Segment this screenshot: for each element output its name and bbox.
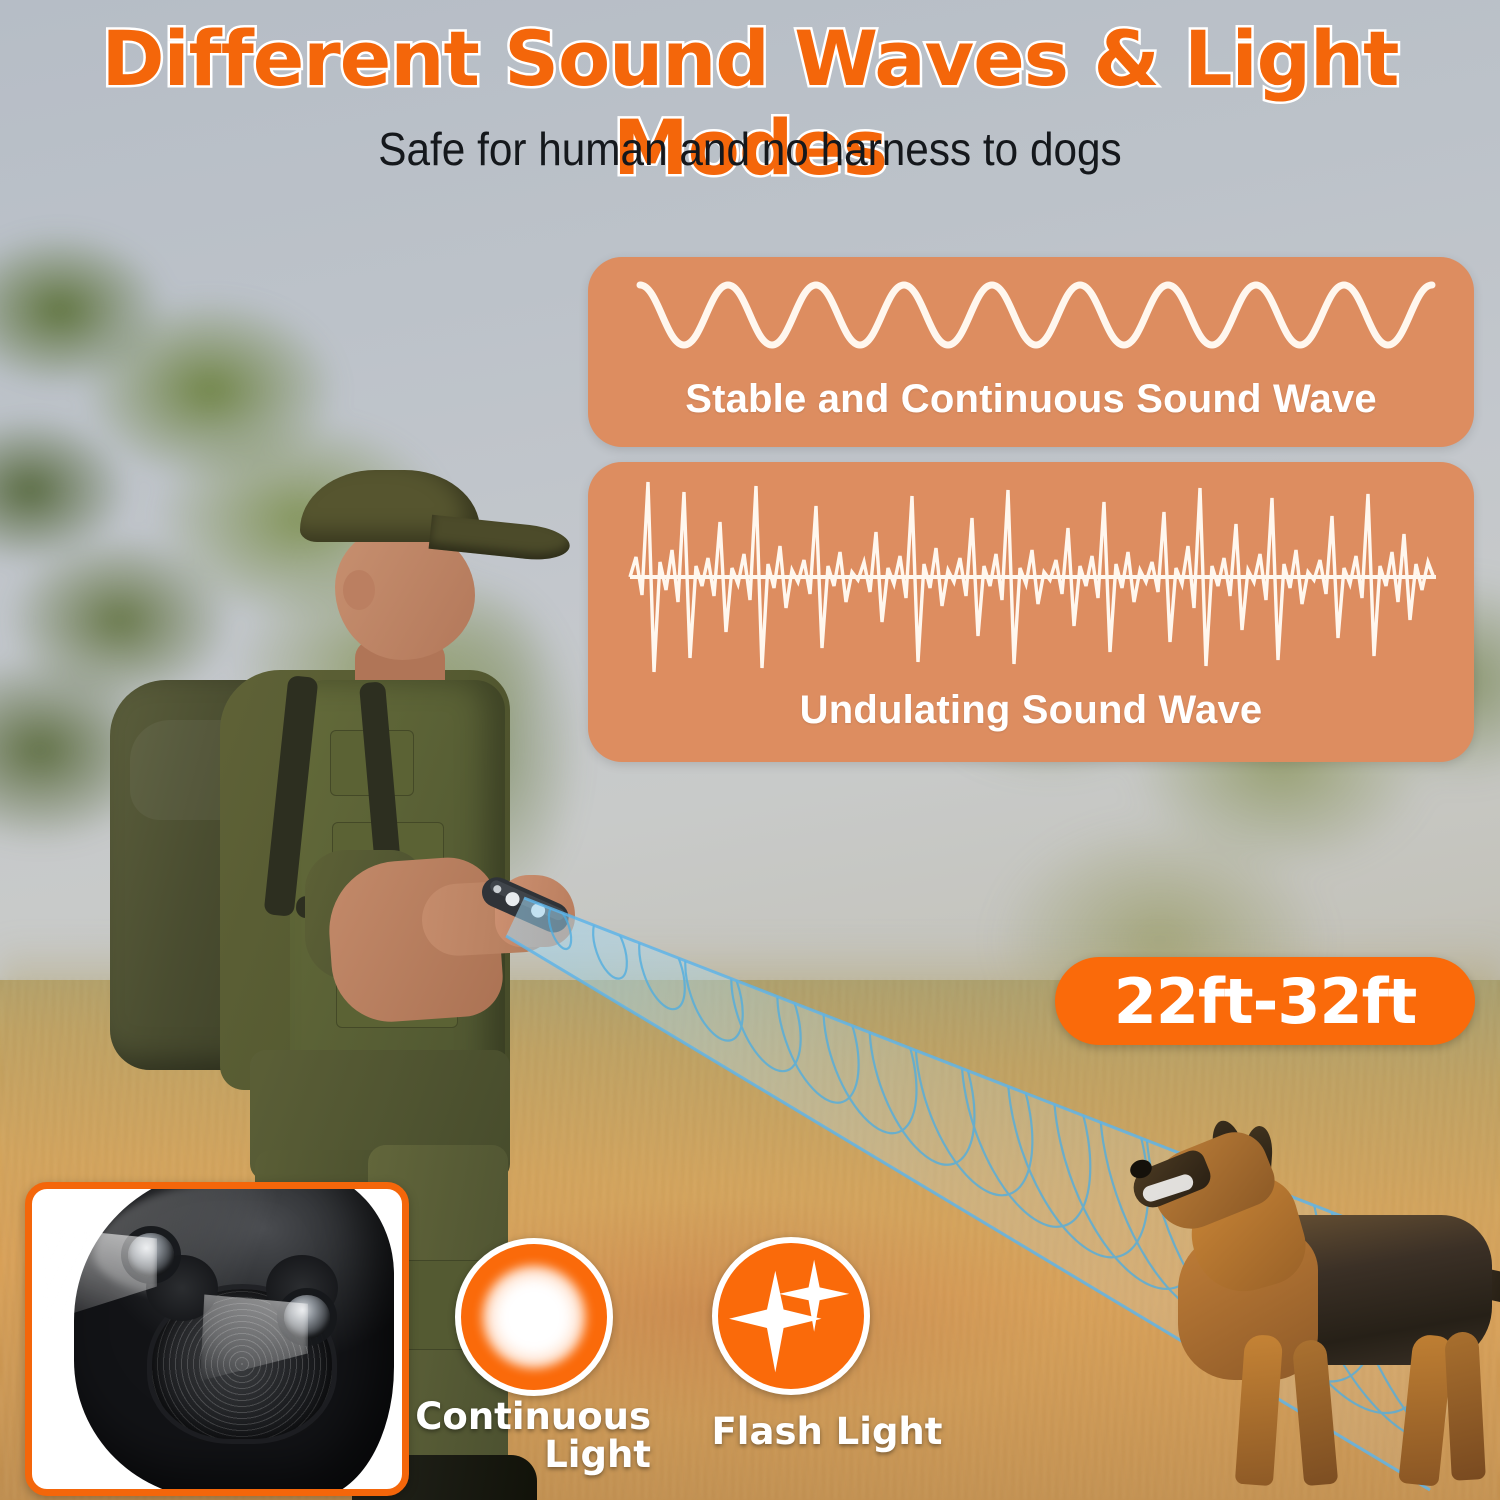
panel-undulating-sound-wave: Undulating Sound Wave [588,462,1474,762]
light-mode-flash-label: Flash Light [702,1413,952,1451]
panel-undulating-label: Undulating Sound Wave [588,688,1474,733]
light-mode-continuous-label-line2: Light [415,1436,651,1474]
page-subtitle: Safe for human and no harness to dogs [60,122,1440,176]
dog-figure [1130,1120,1500,1500]
panel-continuous-sound-wave: Stable and Continuous Sound Wave [588,257,1474,447]
jagged-waveform-icon [588,462,1474,692]
glow-circle-icon [455,1238,613,1396]
light-mode-flash: Flash Light [712,1237,870,1395]
light-mode-continuous: Continuous Light [455,1238,613,1396]
sparkle-stars-icon [712,1237,870,1395]
sparkle-stars-glyph [718,1243,864,1389]
panel-continuous-label: Stable and Continuous Sound Wave [588,377,1474,422]
product-closeup-inset [25,1182,409,1496]
header: Different Sound Waves & Light Modes Safe… [0,0,1500,200]
glow-core [482,1265,586,1369]
dog-leg [1444,1331,1486,1481]
product-feature-poster: Different Sound Waves & Light Modes Safe… [0,0,1500,1500]
range-badge: 22ft-32ft [1055,957,1475,1045]
light-mode-continuous-label-line1: Continuous [415,1398,651,1436]
handheld-device [470,868,580,948]
sine-wave-icon [588,257,1474,377]
person-ear [343,570,375,610]
light-mode-continuous-label: Continuous Light [415,1398,651,1473]
range-badge-text: 22ft-32ft [1114,965,1417,1038]
